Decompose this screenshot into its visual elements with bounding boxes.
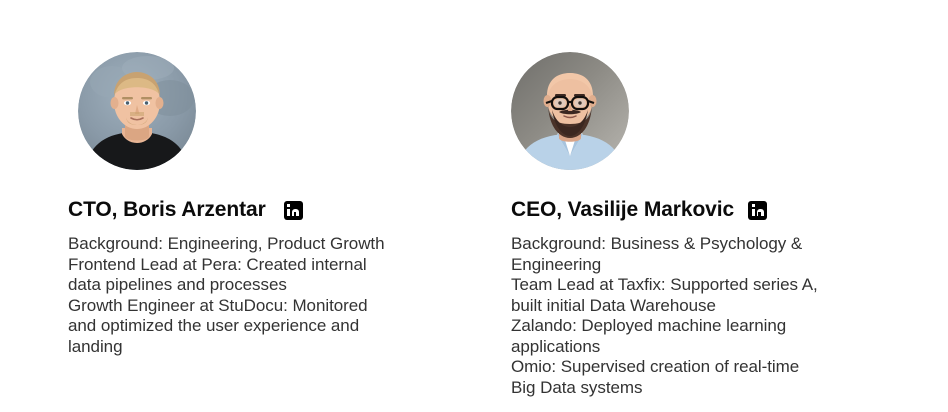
profile-name-row-cto: CTO, Boris Arzentar <box>68 198 468 222</box>
profile-name-ceo: CEO, Vasilije Markovic <box>511 198 734 222</box>
bio-line: Zalando: Deployed machine learning <box>511 316 911 337</box>
bio-line: Team Lead at Taxfix: Supported series A, <box>511 275 911 296</box>
bio-line: Omio: Supervised creation of real-time <box>511 357 911 378</box>
bio-line: built initial Data Warehouse <box>511 296 911 317</box>
bio-line: Background: Business & Psychology & <box>511 234 911 255</box>
avatar-vasilije-markovic <box>511 52 629 170</box>
profile-name-cto: CTO, Boris Arzentar <box>68 198 266 222</box>
team-profiles-section: CTO, Boris Arzentar Background: Engineer… <box>0 0 948 412</box>
linkedin-icon[interactable] <box>284 201 303 220</box>
bio-line: Engineering <box>511 255 911 276</box>
profile-name-row-ceo: CEO, Vasilije Markovic <box>511 198 911 222</box>
bio-line: Background: Engineering, Product Growth <box>68 234 468 255</box>
profile-bio-cto: Background: Engineering, Product Growth … <box>68 234 468 357</box>
bio-line: landing <box>68 337 468 358</box>
avatar-vasilije-image <box>511 52 629 170</box>
bio-line: and optimized the user experience and <box>68 316 468 337</box>
profile-bio-ceo: Background: Business & Psychology & Engi… <box>511 234 911 398</box>
bio-line: applications <box>511 337 911 358</box>
bio-line: Growth Engineer at StuDocu: Monitored <box>68 296 468 317</box>
avatar-boris-arzentar <box>78 52 196 170</box>
bio-line: Big Data systems <box>511 378 911 399</box>
profile-card-ceo: CEO, Vasilije Markovic Background: Busin… <box>511 52 911 398</box>
bio-line: Frontend Lead at Pera: Created internal <box>68 255 468 276</box>
linkedin-icon[interactable] <box>748 201 767 220</box>
avatar-boris-image <box>78 52 196 170</box>
bio-line: data pipelines and processes <box>68 275 468 296</box>
profile-card-cto: CTO, Boris Arzentar Background: Engineer… <box>68 52 468 357</box>
